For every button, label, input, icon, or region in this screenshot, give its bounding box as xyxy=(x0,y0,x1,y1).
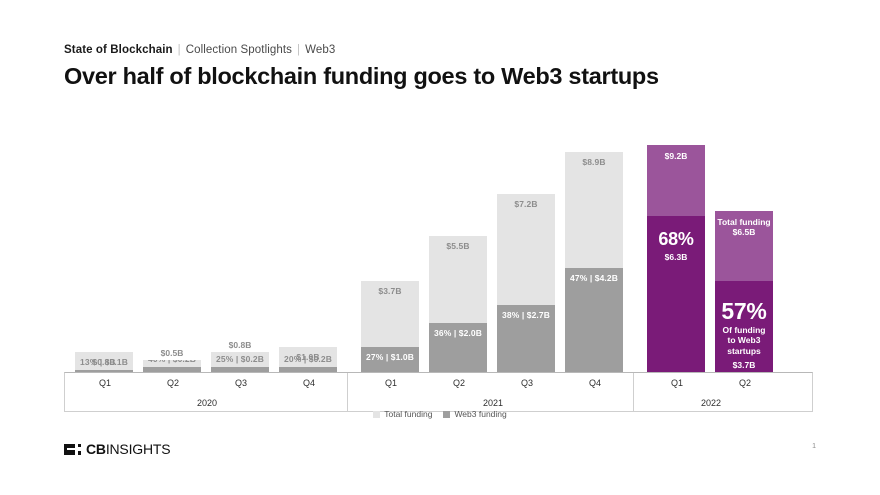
legend-label: Total funding xyxy=(384,409,432,419)
axis-quarter-2021-q2: Q2 xyxy=(425,373,493,394)
stacked-bar[interactable]: $0.8B13% | $0.1B xyxy=(75,352,133,372)
axis-quarter-2022-q2: Q2 xyxy=(711,373,779,394)
segment-web3-funding[interactable]: 47% | $4.2B xyxy=(565,268,623,372)
highlight-caption: Of fundingto Web3startups xyxy=(715,325,773,357)
segment-total-funding[interactable]: $5.5B xyxy=(429,236,487,322)
segment-web3-funding[interactable]: 68%$6.3B xyxy=(647,216,705,372)
bar-column-2021-q1[interactable]: $3.7B27% | $1.0B xyxy=(356,120,424,372)
highlight-amount: $3.7B xyxy=(715,360,773,370)
segment-total-funding[interactable]: Total funding$6.5B xyxy=(715,211,773,280)
segment-total-funding[interactable]: 25% | $0.2B xyxy=(211,352,269,367)
segment-web3-funding[interactable]: 57%Of fundingto Web3startups$3.7B xyxy=(715,281,773,372)
axis-year-separator xyxy=(633,373,634,412)
breadcrumb-separator-1: | xyxy=(173,44,186,56)
cb-insights-logo: CBINSIGHTS xyxy=(64,441,170,457)
segment-web3-funding[interactable]: 38% | $2.7B xyxy=(497,305,555,372)
bar-label-total: $8.9B xyxy=(565,157,623,167)
bar-column-2022-q1[interactable]: $9.2B68%$6.3B xyxy=(642,120,710,372)
bar-label-total: $0.5B xyxy=(138,348,206,358)
legend-item-total-funding[interactable]: Total funding xyxy=(373,409,432,419)
axis-quarter-2022-q1: Q1 xyxy=(643,373,711,394)
segment-total-funding[interactable]: $1.0B20% | $0.2B xyxy=(279,347,337,367)
legend-swatch-icon xyxy=(443,411,450,418)
legend-item-web3-funding[interactable]: Web3 funding xyxy=(443,409,506,419)
breadcrumb-report: State of Blockchain xyxy=(64,44,173,56)
bar-label-total: $0.8B xyxy=(206,340,274,350)
stacked-bar[interactable]: $5.5B36% | $2.0B xyxy=(429,236,487,372)
segment-web3-funding[interactable]: 36% | $2.0B xyxy=(429,323,487,372)
stacked-bar[interactable]: $1.0B20% | $0.2B xyxy=(279,347,337,372)
bar-label-total: $3.7B xyxy=(361,286,419,296)
chart-legend: Total fundingWeb3 funding xyxy=(0,409,880,419)
axis-year-separator xyxy=(347,373,348,412)
bar-column-2020-q3[interactable]: $0.8B25% | $0.2B xyxy=(206,120,274,372)
bar-label-highlight: 68%$6.3B xyxy=(647,230,705,262)
stacked-bar[interactable]: $8.9B47% | $4.2B xyxy=(565,152,623,372)
page-title: Over half of blockchain funding goes to … xyxy=(64,63,659,90)
highlight-amount: $6.3B xyxy=(647,252,705,262)
axis-quarter-2020-q4: Q4 xyxy=(275,373,343,394)
segment-total-funding[interactable]: $0.8B13% | $0.1B xyxy=(75,352,133,369)
bar-column-2021-q4[interactable]: $8.9B47% | $4.2B xyxy=(560,120,628,372)
cb-insights-logo-mark-icon xyxy=(64,444,81,455)
bar-label-web3: 36% | $2.0B xyxy=(429,328,487,338)
bar-column-2021-q3[interactable]: $7.2B38% | $2.7B xyxy=(492,120,560,372)
chart-axis: Q1Q2Q3Q4Q1Q2Q3Q4Q1Q2 202020212022 xyxy=(64,372,813,412)
bar-label-highlight: 57%Of fundingto Web3startups$3.7B xyxy=(715,299,773,370)
segment-total-funding[interactable]: $9.2B xyxy=(647,145,705,217)
segment-total-funding[interactable]: $3.7B xyxy=(361,281,419,348)
highlight-percent: 68% xyxy=(647,230,705,249)
breadcrumb: State of Blockchain|Collection Spotlight… xyxy=(64,44,335,56)
axis-quarter-labels: Q1Q2Q3Q4Q1Q2Q3Q4Q1Q2 xyxy=(65,373,812,394)
stacked-bar[interactable]: 25% | $0.2B xyxy=(211,352,269,372)
cb-insights-logo-text: CBINSIGHTS xyxy=(86,441,170,457)
bar-label-total: $9.2B xyxy=(647,151,705,161)
axis-quarter-2020-q1: Q1 xyxy=(71,373,139,394)
stacked-bar[interactable]: $7.2B38% | $2.7B xyxy=(497,194,555,372)
logo-cb: CB xyxy=(86,441,106,457)
segment-total-funding[interactable]: 40% | $0.2B xyxy=(143,360,201,367)
segment-total-funding[interactable]: $8.9B xyxy=(565,152,623,268)
legend-label: Web3 funding xyxy=(454,409,506,419)
bar-label-total: $7.2B xyxy=(497,199,555,209)
bar-label-total-caption: Total funding$6.5B xyxy=(715,217,773,237)
chart-plot-area: $0.8B13% | $0.1B$0.5B40% | $0.2B$0.8B25%… xyxy=(64,120,813,372)
bar-label-web3: 47% | $4.2B xyxy=(565,273,623,283)
highlight-percent: 57% xyxy=(715,299,773,323)
bar-label-web3: 13% | $0.1B xyxy=(75,357,133,367)
breadcrumb-topic: Web3 xyxy=(305,44,335,56)
page-number: 1 xyxy=(812,443,816,450)
bar-column-2020-q4[interactable]: $1.0B20% | $0.2B xyxy=(274,120,342,372)
bar-label-web3: 27% | $1.0B xyxy=(361,352,419,362)
bar-label-total: $5.5B xyxy=(429,241,487,251)
axis-quarter-2021-q4: Q4 xyxy=(561,373,629,394)
bar-column-2020-q2[interactable]: $0.5B40% | $0.2B xyxy=(138,120,206,372)
bar-label-web3: 40% | $0.2B xyxy=(143,360,201,364)
breadcrumb-section: Collection Spotlights xyxy=(186,44,292,56)
bar-label-web3: 25% | $0.2B xyxy=(211,354,269,364)
axis-quarter-2021-q3: Q3 xyxy=(493,373,561,394)
segment-total-funding[interactable]: $7.2B xyxy=(497,194,555,305)
stacked-bar[interactable]: 40% | $0.2B xyxy=(143,360,201,372)
breadcrumb-separator-2: | xyxy=(292,44,305,56)
stacked-bar[interactable]: $9.2B68%$6.3B xyxy=(647,145,705,372)
stacked-bar[interactable]: Total funding$6.5B57%Of fundingto Web3st… xyxy=(715,211,773,372)
bar-column-2022-q2[interactable]: Total funding$6.5B57%Of fundingto Web3st… xyxy=(710,120,778,372)
bar-column-2020-q1[interactable]: $0.8B13% | $0.1B xyxy=(70,120,138,372)
stacked-bar[interactable]: $3.7B27% | $1.0B xyxy=(361,281,419,372)
bar-column-2021-q2[interactable]: $5.5B36% | $2.0B xyxy=(424,120,492,372)
segment-web3-funding[interactable]: 27% | $1.0B xyxy=(361,347,419,372)
bar-chart: $0.8B13% | $0.1B$0.5B40% | $0.2B$0.8B25%… xyxy=(64,120,813,372)
axis-quarter-2020-q2: Q2 xyxy=(139,373,207,394)
logo-insights: INSIGHTS xyxy=(106,441,171,457)
bar-label-web3: 38% | $2.7B xyxy=(497,310,555,320)
legend-swatch-icon xyxy=(373,411,380,418)
bar-label-web3: 20% | $0.2B xyxy=(279,354,337,364)
axis-quarter-2020-q3: Q3 xyxy=(207,373,275,394)
axis-quarter-2021-q1: Q1 xyxy=(357,373,425,394)
